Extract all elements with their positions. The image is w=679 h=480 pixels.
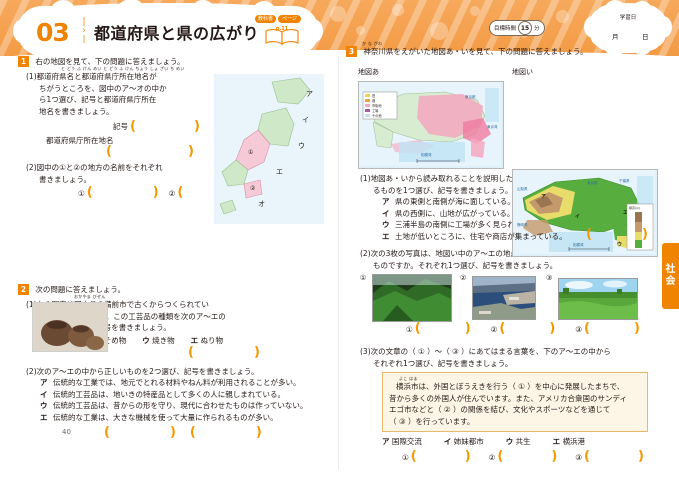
page-number-left: 40 (62, 428, 71, 436)
question-1-p1-line4: 地名を書きましょう。 (39, 106, 201, 118)
passage-line-1: 横浜市は、外国とぼうえきを行う（ ① ）を中心に発展したまちで、 (389, 381, 641, 393)
question-1-p1-label: (1) (26, 72, 37, 81)
question-2-p2-input-2[interactable] (198, 428, 254, 438)
question-3-p1-answer: ( ) (586, 230, 648, 240)
question-3-number: 3 (346, 46, 357, 57)
question-2-choice-c[interactable]: ウ 焼き物 (142, 335, 174, 346)
question-2-p2-answers: ( ) ( ) (104, 428, 328, 438)
paren-close-icon: ) (194, 122, 200, 132)
svg-text:千葉県: 千葉県 (619, 178, 630, 183)
svg-text:畑: 畑 (372, 98, 375, 103)
svg-text:ア: ア (541, 194, 546, 200)
choice-mark-d: エ (191, 336, 199, 345)
choice-mark-a: ア (382, 437, 390, 446)
pottery-photo (32, 302, 108, 352)
paren-close-icon: ) (549, 324, 555, 334)
textbook-badge-dots: ページ (278, 15, 301, 23)
svg-text:オ: オ (258, 200, 265, 208)
choice-text-d: 土地が低いところに、住宅や商店が集まっている。 (395, 232, 567, 241)
svg-text:ウ: ウ (298, 142, 305, 150)
choice-text-d: 伝統的な工業は、大きな機械を使って大量に作られるものが多い。 (53, 413, 278, 422)
paren-close-icon: ) (465, 452, 471, 462)
question-3: か な がわ 3 神奈川県をえがいた地図あ・いを見て、下の問題に答えましょう。 … (346, 42, 656, 462)
svg-text:相模湾: 相模湾 (421, 152, 432, 157)
svg-text:エ: エ (276, 168, 283, 176)
answer-mark-2: ② (489, 453, 496, 462)
goal-time-label: 目標時間 (494, 24, 516, 32)
japan-map-figure: ア イ ウ エ オ ① ② (214, 74, 324, 224)
left-page-column: 1 右の地図を見て、下の問題に答えましょう。 と どう ふ けん めい と どう… (18, 56, 328, 444)
question-3-photo-row: ① ② (360, 274, 656, 344)
paren-close-icon: ) (170, 428, 176, 438)
question-2-p2-input-1[interactable] (112, 428, 168, 438)
question-3-p2-label: (2) (360, 249, 371, 258)
title-plaque: 03 |›| 都道府県と県の広がり 教科書 ページ p.11 (20, 9, 316, 53)
question-3-p3-label: (3) (360, 347, 371, 356)
choice-text-c: 焼き物 (152, 336, 175, 345)
answer-mark-3: ③ (575, 453, 582, 462)
question-1-number: 1 (18, 56, 29, 67)
choice-text-d: 横浜港 (563, 437, 586, 446)
choice-text-d: ぬり物 (201, 336, 224, 345)
paren-close-icon: ) (153, 188, 159, 198)
svg-text:②: ② (250, 185, 256, 192)
passage-line-2: 昔から多くの外国人が住んでいます。また、アメリカ合衆国のサンディ (389, 393, 641, 405)
question-3-choice3-d[interactable]: エ 横浜港 (553, 436, 585, 447)
svg-text:山梨県: 山梨県 (517, 186, 528, 191)
paren-open-icon: ( (106, 147, 112, 157)
choice-mark-c: ウ (506, 437, 514, 446)
question-1-answer-city-input[interactable] (114, 147, 186, 157)
choice-mark-c: ウ (40, 400, 53, 412)
svg-text:その他: その他 (372, 113, 382, 118)
choice-text-a: 国際交流 (392, 437, 422, 446)
paren-close-icon: ) (254, 348, 260, 358)
question-1-p2-input-1[interactable] (95, 188, 151, 198)
question-3-choice3-b[interactable]: イ 姉妹都市 (444, 436, 484, 447)
study-date-month: 月 (612, 31, 619, 41)
svg-text:東京都: 東京都 (465, 94, 476, 99)
photo-mark-1: ① (360, 274, 366, 282)
question-2-p1-answer: ( ) (188, 348, 328, 358)
paren-open-icon: ( (497, 452, 503, 462)
choice-mark-a: ア (40, 377, 53, 389)
choice-mark-d: エ (40, 412, 53, 424)
paren-close-icon: ) (634, 324, 640, 334)
question-2-choice-d[interactable]: エ ぬり物 (191, 335, 223, 346)
map-a-label: 地図あ (358, 67, 379, 77)
subject-side-tab: 社 会 (662, 243, 679, 309)
choice-mark-d: エ (553, 437, 561, 446)
question-3-choice3-a[interactable]: ア 国際交流 (382, 436, 422, 447)
question-3-p3-input-1[interactable] (419, 452, 463, 462)
question-3-p3-input-3[interactable] (592, 452, 636, 462)
workbook-page: 03 |›| 都道府県と県の広がり 教科書 ページ p.11 目標時間 15 分 (0, 0, 679, 480)
subject-tab-char-1: 社 (666, 264, 676, 276)
question-1-p2-label: (2) (26, 163, 37, 172)
right-page-column: か な がわ 3 神奈川県をえがいた地図あ・いを見て、下の問題に答えましょう。 … (346, 42, 656, 468)
map-b-elevation: ア イ ウ エ 東京都 千葉県 山梨県 静岡県 相模湾 (512, 169, 658, 257)
paren-open-icon: ( (190, 428, 196, 438)
choice-mark-b: イ (382, 208, 395, 220)
paren-open-icon: ( (415, 324, 421, 334)
unit-separator-icon: |›| (79, 18, 89, 44)
question-2-choice2-c[interactable]: ウ伝統的工芸品は、昔からの形を守り、現代に合わせたものは作っていない。 (40, 400, 328, 412)
svg-text:工場: 工場 (372, 108, 379, 113)
question-3-p2-input-3[interactable] (592, 324, 632, 334)
svg-text:イ: イ (302, 116, 309, 124)
question-3-p1-label: (1) (360, 174, 371, 183)
paren-close-icon: ) (188, 147, 194, 157)
question-2: 2 次の問題に答えましょう。 おかやま びぜん (1)右の写真は岡山県の備前市で… (18, 284, 328, 438)
paren-open-icon: ( (177, 188, 183, 198)
choice-text-b: 伝統的工芸品は、地いきの特産品として多くの人に親しまれている。 (53, 390, 285, 399)
photo-mark-3: ③ (546, 274, 552, 282)
question-2-p2-line1: 次のア〜エの中から正しいものを2つ選び、記号を書きましょう。 (37, 367, 259, 376)
photo-field (558, 278, 638, 320)
paren-open-icon: ( (584, 324, 590, 334)
paren-close-icon: ) (465, 324, 471, 334)
question-2-p1-input[interactable] (196, 348, 252, 358)
question-3-p1-input[interactable] (594, 230, 640, 240)
svg-text:ウ: ウ (617, 241, 622, 248)
paren-close-icon: ) (638, 452, 644, 462)
question-1-p1-line3: ら1つ選び、記号と都道府県庁所在 (39, 94, 201, 106)
subject-tab-char-2: 会 (666, 276, 676, 288)
choice-text-c: 伝統的工芸品は、昔からの形を守り、現代に合わせたものは作っていない。 (53, 401, 307, 410)
question-1-answer-symbol-input[interactable] (138, 122, 192, 132)
choice-text-c: 三浦半島の南側に工場が多く見られる。 (395, 220, 530, 229)
goal-time-unit: 分 (534, 24, 540, 32)
goal-time-value: 15 (518, 21, 532, 35)
choice-mark-d: エ (382, 231, 395, 243)
question-3-p3-answers: ① ( ) ② ( ) ③ ( ) (402, 452, 656, 462)
textbook-reference-badge: 教科書 ページ p.11 (255, 15, 311, 49)
answer-mark-1: ① (402, 453, 409, 462)
textbook-page-ref: p.11 (263, 26, 301, 32)
choice-text-b: 姉妹都市 (454, 437, 484, 446)
question-3-passage-box: よこ はま 横浜市は、外国とぼうえきを行う（ ① ）を中心に発展したまちで、 昔… (382, 372, 648, 432)
passage-line-4: （ ③ ）を行っています。 (389, 416, 641, 428)
paren-open-icon: ( (584, 452, 590, 462)
paren-close-icon: ) (642, 230, 648, 240)
textbook-badge-label: 教科書 (255, 15, 276, 23)
question-2-p2-label: (2) (26, 367, 37, 376)
paren-open-icon: ( (87, 188, 93, 198)
svg-text:①: ① (248, 149, 253, 156)
open-book-icon: p.11 (263, 26, 301, 46)
paren-close-icon: ) (551, 452, 557, 462)
question-1-p2-line1: 図中の①と②の地方の名前をそれぞれ (37, 163, 163, 172)
paren-open-icon: ( (586, 230, 592, 240)
question-1-answer-symbol-label: 記号 (113, 121, 128, 132)
paren-open-icon: ( (130, 122, 136, 132)
page-title: 都道府県と県の広がり (94, 20, 259, 44)
svg-text:標高(m): 標高(m) (629, 205, 640, 210)
svg-text:相模湾: 相模湾 (573, 242, 584, 247)
choice-mark-c: ウ (382, 219, 395, 231)
choice-mark-b: イ (444, 437, 452, 446)
passage-line-3: エゴ市などと（ ② ）の関係を結び、文化やスポーツなどを通じて (389, 404, 641, 416)
paren-open-icon: ( (104, 428, 110, 438)
choice-text-c: 共生 (516, 437, 531, 446)
choice-mark-a: ア (382, 196, 395, 208)
question-3-p2-line2: ものですか。それぞれ1つ選び、記号を書きましょう。 (373, 260, 656, 272)
question-2-choice2-a[interactable]: ア伝統的な工業では、地元でとれる材料やねん料が利用されることが多い。 (40, 377, 328, 389)
svg-text:市街地: 市街地 (372, 103, 382, 108)
photo-coast (472, 276, 536, 320)
svg-text:イ: イ (575, 214, 580, 220)
question-3-p2-input-1[interactable] (423, 324, 463, 334)
answer-mark-1: ① (406, 325, 413, 334)
choice-mark-c: ウ (142, 336, 150, 345)
map-b-label: 地図い (512, 67, 533, 77)
answer-mark-3: ③ (575, 325, 582, 334)
question-1-p1-line1: 都道府県名と都道府県庁所在地名が (37, 72, 157, 81)
question-3-choices3: ア 国際交流 イ 姉妹都市 ウ 共生 エ 横浜港 (382, 436, 656, 447)
photo-forest (372, 274, 452, 322)
svg-text:ア: ア (306, 90, 313, 98)
paren-open-icon: ( (499, 324, 505, 334)
paren-open-icon: ( (188, 348, 194, 358)
goal-time-badge: 目標時間 15 分 (489, 20, 545, 36)
photo-mark-2: ② (460, 274, 466, 282)
question-3-p3-input-2[interactable] (505, 452, 549, 462)
question-1-p2-line2: 書きましょう。 (39, 174, 216, 186)
question-3-p2-answers: ① ( ) ② ( ) ③ ( (406, 324, 640, 334)
svg-text:静岡県: 静岡県 (517, 222, 528, 227)
question-2-choice2-d[interactable]: エ伝統的な工業は、大きな機械を使って大量に作られるものが多い。 (40, 412, 328, 424)
study-date-day: 日 (642, 31, 649, 41)
map-a-landuse: 東京都 東京湾 相模湾 田 畑 市街地 工場 その他 (358, 81, 504, 169)
question-2-number: 2 (18, 284, 29, 295)
svg-text:田: 田 (372, 94, 375, 98)
svg-text:東京湾: 東京湾 (487, 124, 498, 129)
study-date-label: 学習日 (590, 13, 666, 21)
unit-number: 03 (36, 18, 69, 47)
choice-text-a: 伝統的な工業では、地元でとれる材料やねん料が利用されることが多い。 (53, 378, 301, 387)
question-3-p3-line2: それぞれ1つ選び、記号を書きましょう。 (373, 358, 656, 370)
question-3-choice3-c[interactable]: ウ 共生 (506, 436, 531, 447)
question-3-stem: 神奈川県をえがいた地図あ・いを見て、下の問題に答えましょう。 (363, 46, 655, 57)
svg-text:東京都: 東京都 (587, 180, 598, 185)
answer-mark-1: ① (78, 189, 85, 198)
question-3-p2-input-2[interactable] (507, 324, 547, 334)
choice-mark-b: イ (40, 389, 53, 401)
answer-mark-2: ② (491, 325, 498, 334)
question-1: 1 右の地図を見て、下の問題に答えましょう。 と どう ふ けん めい と どう… (18, 56, 328, 198)
paren-close-icon: ) (256, 428, 262, 438)
question-3-p3-line1: 次の文章の（ ① ）〜（ ③ ）にあてはまる言葉を、下のア〜エの中から (371, 347, 611, 356)
paren-open-icon: ( (411, 452, 417, 462)
choice-text-a: 県の東側と南側が海に面している。 (395, 197, 515, 206)
question-2-choice2-b[interactable]: イ伝統的工芸品は、地いきの特産品として多くの人に親しまれている。 (40, 389, 328, 401)
choice-text-b: 県の西側に、山地が広がっている。 (395, 209, 514, 218)
question-1-p1-line2: ちがうところを、図中のア〜オの中か (39, 83, 201, 95)
answer-mark-2: ② (169, 189, 176, 198)
